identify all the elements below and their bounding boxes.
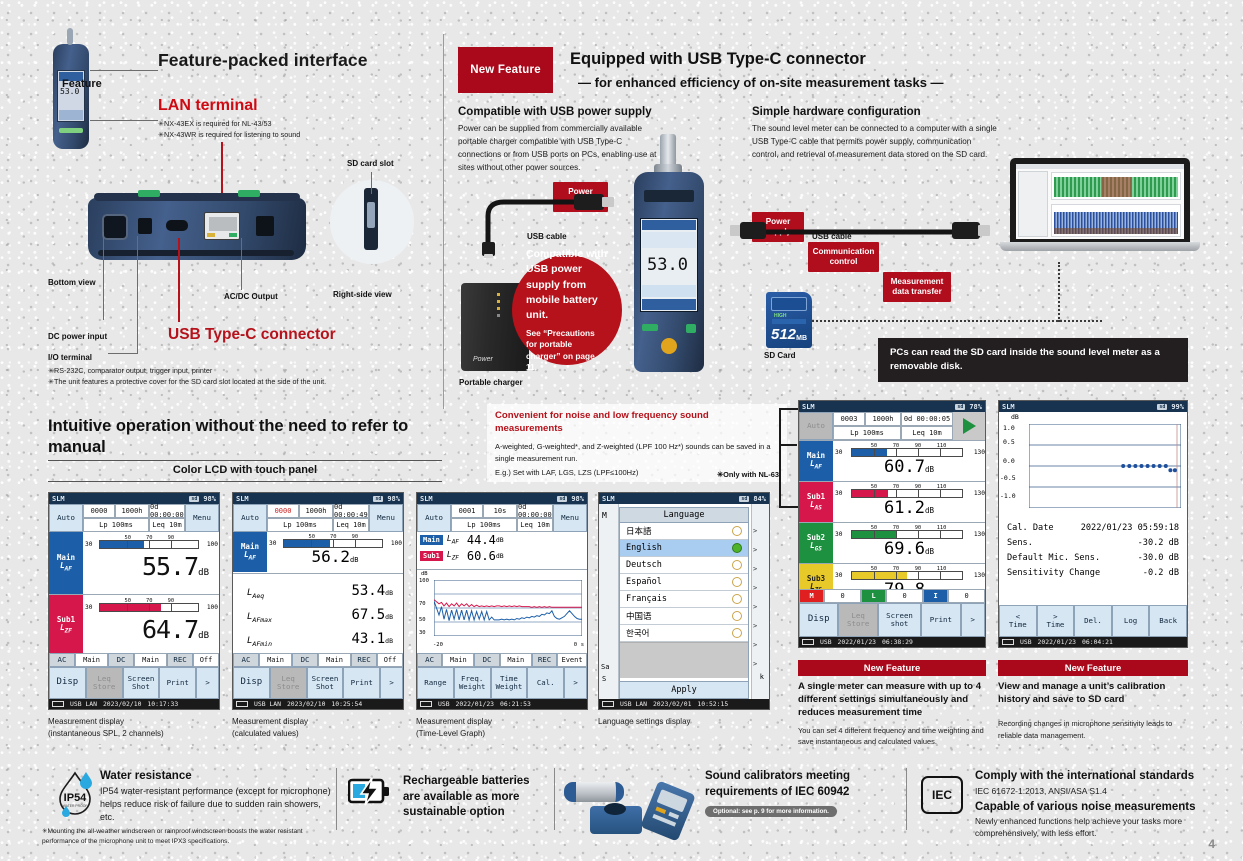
chevron-right-icon[interactable]: > <box>753 622 767 630</box>
radio-unselected-icon[interactable] <box>732 526 742 536</box>
footer-divider-1 <box>336 768 337 830</box>
standards-title: Comply with the international standards <box>975 769 1194 785</box>
lcd1-sub-tag: Sub1LZF <box>49 595 83 656</box>
lcd3-range-button[interactable]: Range <box>417 667 454 699</box>
ip54-waterdrop-icon: IP54 WATER PROOF <box>53 770 97 818</box>
lcd3-battery: 98% <box>571 495 584 503</box>
callout-measurement-data-transfer: Measurement data transfer <box>883 272 951 302</box>
noise-box-example: E.g.) Set with LAF, LGS, LZS (LPF≤100Hz) <box>495 467 638 479</box>
lcd4-apply-button[interactable]: Apply <box>620 681 748 698</box>
language-option-label: 中国语 <box>626 610 652 622</box>
lcd5-channel-row: MainLAF5070901103013060.7dB <box>799 440 985 481</box>
lcd1-main-value: 55.7 <box>142 552 198 581</box>
noise-box-only-note: ✳Only with NL-63 <box>717 470 779 479</box>
right-side-view-label: Right-side view <box>333 290 392 299</box>
lcd6-time: 06:04:21 <box>1082 638 1113 646</box>
radio-selected-icon[interactable] <box>732 543 742 553</box>
lcd3-status-ac: AC <box>417 653 442 667</box>
lcd4-chevron-col: >> >> >> >> <box>753 521 767 673</box>
lcd6-ytick-m05: -0.5 <box>1000 474 1016 482</box>
lcd1-time: 10:17:33 <box>147 700 178 708</box>
lcd2-value-1: 67.5 <box>351 607 385 623</box>
lcd5-button-row: Disp Leq Store Screen shot Print > <box>799 603 985 637</box>
lcd6-ytick-m1: -1.0 <box>1000 492 1016 500</box>
lcd2-main-bargraph: 50 70 90 <box>283 539 383 548</box>
lcd3-xtick-max: 0 <box>574 642 577 648</box>
usb-typec-pointer <box>178 238 180 322</box>
lcd6-plot-area <box>1029 424 1181 508</box>
footer-divider-2 <box>554 768 555 830</box>
lcd2-menu-button[interactable]: Menu <box>369 504 403 532</box>
lcd3-ytick-30: 30 <box>419 630 426 636</box>
lcd5-time: 06:38:29 <box>882 638 913 646</box>
lcd5-disp-button[interactable]: Disp <box>799 603 838 637</box>
lcd1-main-bar-fill <box>100 541 144 548</box>
lcd2-time: 10:25:54 <box>331 700 362 708</box>
sound-calibrators-pill: Optional: see p. 9 for more information. <box>705 806 837 817</box>
footer-divider-3 <box>906 768 907 830</box>
lcd4-date: 2023/02/01 <box>653 700 691 708</box>
lcd2-status-rec-val: Off <box>377 653 403 667</box>
lcd4-statusbar: USB LAN 2023/02/01 10:52:15 <box>599 699 769 709</box>
lcd1-menu-button[interactable]: Menu <box>185 504 219 532</box>
lcd1-statusbar: USB LAN 2023/02/10 10:17:33 <box>49 699 219 709</box>
chevron-right-icon[interactable]: > <box>753 660 767 668</box>
lcd2-calculated-values: LAeq 53.4dB LAFmax 67.5dB LAFmin 43.1dB … <box>233 573 403 635</box>
lcd3-plot-area <box>434 580 582 636</box>
lcd3-time-weight-button[interactable]: Time Weight <box>491 667 528 699</box>
lcd2-value-row: LAFmax 67.5dB <box>247 604 393 624</box>
dc-power-input-label: DC power input <box>48 332 107 341</box>
lcd3-status-rec: REC <box>532 653 557 667</box>
language-option[interactable]: English <box>620 540 748 557</box>
lcd1-status-rec: REC <box>167 653 193 667</box>
sd-card-icon: sd <box>1157 404 1167 410</box>
lcd5-scale-max: 130 <box>974 490 985 497</box>
charger-brand-text: Power <box>473 356 493 363</box>
usb-cable-right-graphic <box>714 218 1010 248</box>
portable-charger-label: Portable charger <box>459 378 523 387</box>
lcd6-button-row: < Time > Time Del. Log Back <box>999 605 1187 637</box>
dc-power-input-pointer <box>103 232 104 320</box>
lcd3-caption: Measurement display (Time-Level Graph) <box>416 716 591 740</box>
lcd5-status-m: M <box>799 589 824 603</box>
lcd1-disp-button[interactable]: Disp <box>49 667 86 699</box>
lcd3-conn: USB <box>438 700 450 708</box>
acdc-output-label: AC/DC Output <box>224 292 278 301</box>
bottom-view-label: Bottom view <box>48 278 96 287</box>
chevron-right-icon[interactable]: > <box>753 603 767 611</box>
lcd1-auto-button[interactable]: Auto <box>49 504 83 532</box>
lcd5-scale-min: 30 <box>835 490 842 497</box>
svg-text:IP54: IP54 <box>64 792 88 804</box>
lcd4-title: SLM <box>602 495 615 503</box>
language-option[interactable]: 日本語 <box>620 523 748 540</box>
lcd1-tick-50: 50 <box>125 535 132 541</box>
iec-icon-label: IEC <box>932 788 952 802</box>
lcd1-main-bargraph: 50 70 90 <box>99 540 199 549</box>
lcd1-print-button[interactable]: Print <box>159 667 196 699</box>
lcd1-titlebar: SLM sd 98% <box>49 493 219 504</box>
lcd6-info-label: Cal. Date <box>1007 523 1054 533</box>
lan-terminal-heading: LAN terminal <box>158 97 258 115</box>
lcd3-statusbar: USB 2022/01/23 06:21:53 <box>417 699 587 709</box>
usb-power-compatibility-circle: Compatible with USB power supply from mo… <box>512 255 622 365</box>
lcd3-y-axis-label: dB <box>421 571 428 577</box>
lcd4-titlebar: SLM sd 84% <box>599 493 769 504</box>
lcd1-sub-bargraph: 50 70 90 <box>99 603 199 612</box>
lcd1-next-button[interactable]: > <box>196 667 219 699</box>
chevron-right-icon[interactable]: > <box>753 546 767 554</box>
battery-icon <box>802 639 814 645</box>
lcd5-next-button[interactable]: > <box>961 603 985 637</box>
lcd1-leq-store-button[interactable]: Leq Store <box>86 667 123 699</box>
lcd3-status-dc-val: Main <box>500 653 532 667</box>
lcd5-status-row: M 0 L 0 I 0 <box>799 589 985 603</box>
lcd-calibration-history[interactable]: SLM sd 99% dB 1.0 0.5 0.0 -0.5 -1.0 Cal.… <box>998 400 1188 648</box>
play-icon <box>963 418 976 434</box>
lcd3-next-button[interactable]: > <box>564 667 587 699</box>
lcd4-battery: 84% <box>753 495 766 503</box>
lcd5-channel-bargraph: 507090110 <box>851 571 963 580</box>
lcd6-info-row: Sens.-30.2 dB <box>1007 538 1179 548</box>
battery-icon <box>420 701 432 707</box>
sound-calibrators-title: Sound calibrators meeting requirements o… <box>705 769 895 800</box>
lcd2-label-0: Aeq <box>252 592 264 600</box>
lcd4-time: 10:52:15 <box>697 700 728 708</box>
lcd5-leq: Leq 10m <box>901 426 953 440</box>
pc-vertical-dotted-line <box>1058 262 1060 322</box>
language-option[interactable]: 한국어 <box>620 625 748 642</box>
usb-cable-label-right: USB cable <box>812 232 852 241</box>
sd-capacity-unit: MB <box>796 335 807 342</box>
lcd4-hidden-left-s: S <box>602 675 606 683</box>
lcd2-address: 0000 <box>267 504 299 518</box>
lcd3-auto-button[interactable]: Auto <box>417 504 451 532</box>
lcd6-ytick-05: 0.5 <box>1003 438 1015 446</box>
lcd2-caption: Measurement display (calculated values) <box>232 716 407 740</box>
lcd5-leq-store-button[interactable]: Leq Store <box>838 603 877 637</box>
lcd2-title: SLM <box>236 495 249 503</box>
lcd3-elapsed: 0d 00:00:00 <box>517 504 553 518</box>
lcd3-status-ac-val: Main <box>442 653 474 667</box>
lcd2-main-value: 56.2 <box>312 547 351 566</box>
lcd3-ytick-70: 70 <box>419 601 426 607</box>
rechargeable-batteries-title: Rechargeable batteries are available as … <box>403 774 543 821</box>
chevron-right-icon[interactable]: > <box>753 527 767 535</box>
lcd5-channel-tag: Sub1LAS <box>799 482 833 522</box>
lcd5-channel-row: Sub1LAS5070901103013061.2dB <box>799 481 985 522</box>
sd-capacity: 512 <box>771 326 796 343</box>
usb-new-feature-badge: New Feature <box>458 47 553 93</box>
battery-icon <box>1002 639 1014 645</box>
language-option-label: 日本語 <box>626 525 652 537</box>
lcd4-hidden-left-sa: Sa <box>601 663 609 671</box>
new-feature-body-2: Recording changes in microphone sensitiv… <box>998 718 1188 740</box>
lcd6-delete-button[interactable]: Del. <box>1074 605 1112 637</box>
battery-icon <box>52 701 64 707</box>
lcd4-conn: USB LAN <box>620 700 647 708</box>
lcd5-play-button[interactable] <box>953 412 985 440</box>
usb-section-title: Equipped with USB Type-C connector <box>570 50 866 69</box>
lcd4-empty-area <box>620 642 748 678</box>
lcd3-duration: 10s <box>483 504 517 518</box>
language-option-label: Deutsch <box>626 560 662 570</box>
sd-card-slot-label: SD card slot <box>347 159 394 168</box>
lcd6-date: 2022/01/23 <box>1038 638 1076 646</box>
lcd1-status-dc-val: Main <box>134 653 167 667</box>
lcd1-scale-max: 100 <box>207 541 218 548</box>
sd-card-icon: sd <box>739 496 749 502</box>
language-option-label: English <box>626 543 662 553</box>
lcd4-hidden-right-k: k <box>760 673 764 681</box>
lan-note-1: ✳NX-43EX is required for NL-43/53 <box>158 119 272 129</box>
lcd2-main-tag: MainLAF <box>233 532 267 572</box>
lcd3-leq: Leq 10m <box>517 518 553 532</box>
lcd5-channel-unit: dB <box>925 465 934 474</box>
lcd1-lp: Lp 100ms <box>83 518 149 532</box>
lcd2-value-2: 43.1 <box>351 631 385 647</box>
lcd6-y-axis-label: dB <box>1011 413 1019 421</box>
lcd2-lp: Lp 100ms <box>267 518 333 532</box>
lcd2-status-ac-val: Main <box>259 653 292 667</box>
sound-level-meter-thumbnail: 53.0 <box>53 44 89 149</box>
noise-box-connector-h <box>779 444 797 446</box>
lcd5-scale-min: 30 <box>835 572 842 579</box>
lcd3-sub-value: 60.6 <box>467 549 496 563</box>
lcd6-info-value: -30.0 dB <box>1138 553 1179 563</box>
lcd6-title: SLM <box>1002 403 1015 411</box>
lcd4-dialog-title: Language <box>620 508 748 523</box>
lcd2-button-row: Disp Leq Store Screen Shot Print > <box>233 667 403 699</box>
lcd2-status-ac: AC <box>233 653 259 667</box>
lan-note-2: ✳NX-43WR is required for listening to so… <box>158 130 300 140</box>
feature-callout-line-2 <box>90 120 158 121</box>
lcd6-info-row: Default Mic. Sens.-30.0 dB <box>1007 553 1179 563</box>
lcd3-x-axis-label: s <box>581 642 584 648</box>
lcd-four-channel-measurement[interactable]: SLM sd 78% Auto 0003 1000h 0d 00:00:05 L… <box>798 400 986 648</box>
noise-box-connector-v <box>779 408 781 508</box>
circle-sub-text: See “Precautions for portable charger” o… <box>526 328 608 373</box>
meter-right-side-view-photo <box>330 180 414 264</box>
meter-bottom-view-photo <box>88 198 306 260</box>
lcd1-tick-70: 70 <box>146 535 153 541</box>
lcd2-date: 2023/02/10 <box>287 700 325 708</box>
lcd2-leq-store-button[interactable]: Leq Store <box>270 667 307 699</box>
lcd5-channel-row: Sub2LGS5070901103013069.6dB <box>799 522 985 563</box>
language-option-label: Français <box>626 594 667 604</box>
sd-card-photo: HIGH 512 MB <box>766 292 812 348</box>
lcd2-label-1: AFmax <box>252 616 272 624</box>
lcd6-info-label: Default Mic. Sens. <box>1007 553 1100 563</box>
lcd5-channel-tag: Sub2LGS <box>799 523 833 563</box>
lcd5-duration: 1000h <box>865 412 901 426</box>
lcd2-print-button[interactable]: Print <box>343 667 380 699</box>
sd-cover-note: ✳The unit features a protective cover fo… <box>48 377 326 387</box>
noise-low-frequency-box: Convenient for noise and low frequency s… <box>487 404 787 482</box>
language-option[interactable]: Français <box>620 591 748 608</box>
lcd1-main-unit: dB <box>198 568 209 578</box>
chevron-right-icon[interactable]: > <box>753 584 767 592</box>
radio-unselected-icon[interactable] <box>732 577 742 587</box>
lcd6-log-button[interactable]: Log <box>1112 605 1150 637</box>
lcd3-button-row: Range Freq. Weight Time Weight Cal. > <box>417 667 587 699</box>
lcd3-date: 2022/01/23 <box>456 700 494 708</box>
lcd1-status-ac-val: Main <box>75 653 108 667</box>
lcd2-status-dc: DC <box>292 653 318 667</box>
lcd4-language-list[interactable]: 日本語EnglishDeutschEspañolFrançais中国语한국어 <box>620 523 748 642</box>
lcd5-scale-max: 130 <box>974 449 985 456</box>
lcd2-screenshot-button[interactable]: Screen Shot <box>307 667 344 699</box>
lcd2-status-rec: REC <box>351 653 377 667</box>
lcd4-language-dialog[interactable]: Language 日本語EnglishDeutschEspañolFrançai… <box>619 507 749 699</box>
lcd2-main-bar-fill <box>284 540 330 547</box>
color-lcd-rule-top <box>48 460 442 461</box>
lcd3-title: SLM <box>420 495 433 503</box>
lcd-measurement-instant-spl[interactable]: SLM sd 98% Auto 0000 1000h 0d 00:00:00 L… <box>48 492 220 710</box>
new-feature-body-1: You can set 4 different frequency and ti… <box>798 725 986 747</box>
lcd5-status-l-val: 0 <box>886 589 923 603</box>
standards-body: IEC 61672-1:2013, ANSI/ASA S1.4 <box>975 785 1107 797</box>
top-section-divider <box>443 34 444 409</box>
iec-icon: IEC <box>921 776 963 814</box>
lcd5-print-button[interactable]: Print <box>921 603 960 637</box>
usb-typec-connector-label: USB Type-C connector <box>168 326 336 344</box>
lcd2-next-button[interactable]: > <box>380 667 403 699</box>
language-option[interactable]: Español <box>620 574 748 591</box>
lcd5-battery: 78% <box>969 403 982 411</box>
laptop-photo <box>1000 158 1200 258</box>
hardware-config-body: The sound level meter can be connected t… <box>752 122 1000 161</box>
lcd-time-level-graph[interactable]: SLM sd 98% Auto 0001 10s 0d 00:00:00 Lp … <box>416 492 588 710</box>
lcd2-value-row: LAFmin 43.1dB <box>247 628 393 648</box>
radio-unselected-icon[interactable] <box>732 560 742 570</box>
lcd5-status-l: L <box>861 589 886 603</box>
radio-unselected-icon[interactable] <box>732 611 742 621</box>
lcd5-auto-button[interactable]: Auto <box>799 412 833 440</box>
lcd5-channel-bargraph: 507090110 <box>851 448 963 457</box>
language-option-label: 한국어 <box>626 627 649 639</box>
lcd2-auto-button[interactable]: Auto <box>233 504 267 532</box>
lcd3-xtick-min: -20 <box>433 642 443 648</box>
lcd6-next-time-button[interactable]: > Time <box>1037 605 1075 637</box>
radio-unselected-icon[interactable] <box>732 594 742 604</box>
lcd3-menu-button[interactable]: Menu <box>553 504 587 532</box>
lcd1-address: 0000 <box>83 504 115 518</box>
feature-callout-line-1 <box>90 70 158 71</box>
lcd5-scale-min: 30 <box>835 531 842 538</box>
color-lcd-subheading: Color LCD with touch panel <box>48 464 442 476</box>
sd-card-icon: sd <box>955 404 965 410</box>
lcd5-channel-bar-fill <box>852 572 907 579</box>
lcd3-ytick-100: 100 <box>419 578 429 584</box>
calibrator-devices-image <box>560 776 710 836</box>
lcd-measurement-calculated[interactable]: SLM sd 98% Auto 0000 1000h 0d 00:00:49 L… <box>232 492 404 710</box>
lcd6-info-value: -30.2 dB <box>1138 538 1179 548</box>
noise-measurements-body: Newly enhanced functions help achieve yo… <box>975 816 1203 840</box>
lcd6-info-rows: Cal. Date2022/01/23 05:59:18Sens.-30.2 d… <box>999 519 1187 595</box>
lcd1-battery: 98% <box>203 495 216 503</box>
lcd2-statusbar: USB LAN 2023/02/10 10:25:54 <box>233 699 403 709</box>
lcd1-sub-value: 64.7 <box>142 615 198 644</box>
noise-measurements-title: Capable of various noise measurements <box>975 800 1196 816</box>
sd-card-icon: sd <box>557 496 567 502</box>
noise-box-body: A-weighted, G-weighted*, and Z-weighted … <box>495 441 779 464</box>
lcd1-scale-min: 30 <box>85 541 92 548</box>
lcd6-titlebar: SLM sd 99% <box>999 401 1187 412</box>
lcd6-info-label: Sensitivity Change <box>1007 568 1100 578</box>
lcd5-elapsed: 0d 00:00:05 <box>901 412 953 426</box>
lcd2-disp-button[interactable]: Disp <box>233 667 270 699</box>
lcd1-duration: 1000h <box>115 504 149 518</box>
usb-section-subtitle: — for enhanced efficiency of on-site mea… <box>578 75 944 90</box>
radio-unselected-icon[interactable] <box>732 628 742 638</box>
lcd1-status-rec-val: Off <box>193 653 219 667</box>
lcd6-statusbar: USB 2022/01/23 06:04:21 <box>999 637 1187 647</box>
lcd2-conn: USB LAN <box>254 700 281 708</box>
lcd5-screenshot-button[interactable]: Screen shot <box>878 603 921 637</box>
lcd6-prev-time-button[interactable]: < Time <box>999 605 1037 637</box>
lcd2-titlebar: SLM sd 98% <box>233 493 403 504</box>
lcd5-scale-max: 130 <box>974 531 985 538</box>
lcd2-battery: 98% <box>387 495 400 503</box>
lcd5-status-m-val: 0 <box>824 589 861 603</box>
lcd2-duration: 1000h <box>299 504 333 518</box>
lcd3-freq-weight-button[interactable]: Freq. Weight <box>454 667 491 699</box>
lcd6-back-button[interactable]: Back <box>1149 605 1187 637</box>
chevron-right-icon[interactable]: > <box>753 565 767 573</box>
lcd5-scale-min: 30 <box>835 449 842 456</box>
meter-photo-reading: 53.0 <box>647 255 688 275</box>
noise-box-connector-bottom <box>779 506 799 508</box>
lcd5-channel-value: 69.6 <box>884 539 925 559</box>
sd-card-label: SD Card <box>764 351 796 360</box>
circle-main-text: Compatible with USB power supply from mo… <box>526 247 608 323</box>
lcd3-lp: Lp 100ms <box>451 518 517 532</box>
io-terminal-label: I/O terminal <box>48 353 92 362</box>
lcd3-sub-tag: Sub1 <box>420 551 443 561</box>
lcd3-cal-button[interactable]: Cal. <box>527 667 564 699</box>
lcd1-screenshot-button[interactable]: Screen Shot <box>123 667 160 699</box>
language-option[interactable]: Deutsch <box>620 557 748 574</box>
lcd3-time: 06:21:53 <box>500 700 531 708</box>
lcd1-button-row: Disp Leq Store Screen Shot Print > <box>49 667 219 699</box>
lcd3-main-value: 44.4 <box>467 533 496 547</box>
lcd1-sub-bar-fill <box>100 604 161 611</box>
lcd2-status-row: AC Main DC Main REC Off <box>233 653 403 667</box>
lcd5-status-i: I <box>923 589 948 603</box>
lcd6-info-value: 2022/01/23 05:59:18 <box>1081 523 1179 533</box>
lcd5-statusbar: USB 2022/01/23 06:38:29 <box>799 637 985 647</box>
lcd3-titlebar: SLM sd 98% <box>417 493 587 504</box>
new-feature-title-1: A single meter can measure with up to 4 … <box>798 680 986 720</box>
new-feature-block-1: New Feature A single meter can measure w… <box>798 660 986 747</box>
lcd-language-settings[interactable]: SLM sd 84% M Sa S k >> >> >> >> Language… <box>598 492 770 710</box>
water-resistance-note: ✳Mounting the all-weather windscreen or … <box>42 827 322 846</box>
language-option-label: Español <box>626 577 662 587</box>
lcd2-elapsed: 0d 00:00:49 <box>333 504 369 518</box>
chevron-right-icon[interactable]: > <box>753 641 767 649</box>
color-lcd-rule-bottom <box>48 481 442 482</box>
noise-box-title: Convenient for noise and low frequency s… <box>495 410 779 436</box>
language-option[interactable]: 中国语 <box>620 608 748 625</box>
new-feature-badge-2: New Feature <box>998 660 1188 676</box>
lcd1-title: SLM <box>52 495 65 503</box>
lcd2-value-row: LAeq 53.4dB <box>247 580 393 600</box>
lcd5-title: SLM <box>802 403 815 411</box>
lcd5-channel-bargraph: 507090110 <box>851 489 963 498</box>
lcd5-channel-tag: MainLAF <box>799 441 833 481</box>
